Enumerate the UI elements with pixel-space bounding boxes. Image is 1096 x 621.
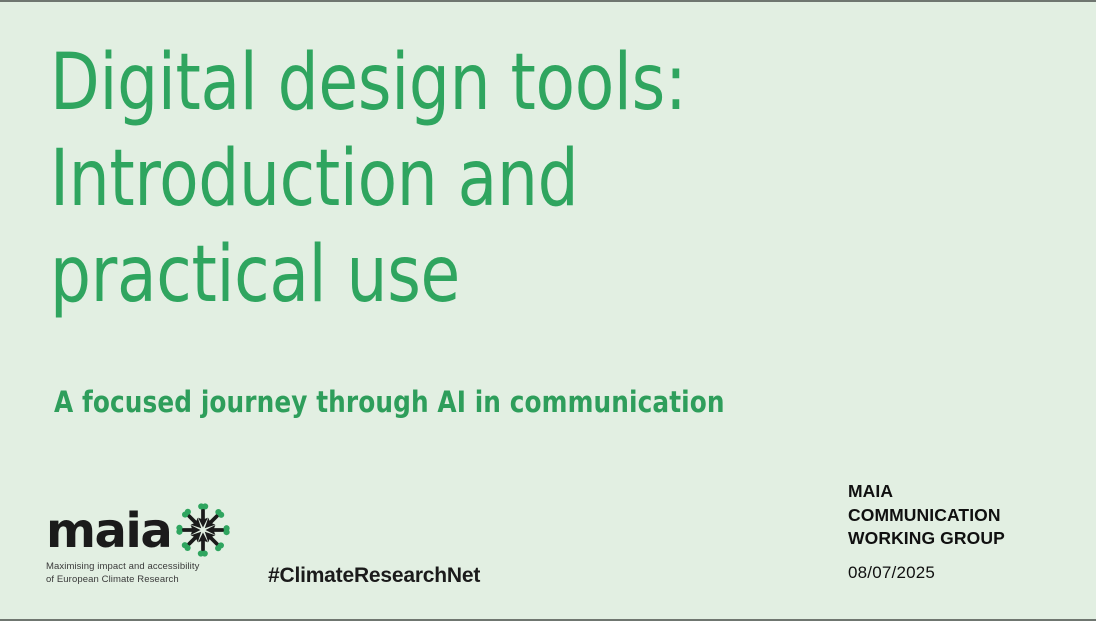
meta-line-1: MAIA [848, 480, 1078, 504]
title-line-1: Digital design tools: [50, 35, 915, 131]
title-line-3: practical use [50, 227, 915, 323]
title-line-2: Introduction and [50, 131, 915, 227]
logo-wordmark: maia [46, 507, 171, 555]
logo-row: maia [46, 507, 256, 555]
meta-line-2: COMMUNICATION [848, 504, 1078, 528]
presentation-title-slide: Digital design tools: Introduction and p… [0, 0, 1096, 621]
logo-tagline-line-2: of European Climate Research [46, 573, 256, 586]
logo-tagline-line-1: Maximising impact and accessibility [46, 560, 256, 573]
slide-date: 08/07/2025 [848, 563, 1078, 583]
logo-tagline: Maximising impact and accessibility of E… [46, 560, 256, 586]
maia-starburst-icon [172, 499, 234, 561]
maia-logo: maia [46, 507, 256, 586]
page-subtitle: A focused journey through AI in communic… [54, 385, 725, 419]
meta-line-3: WORKING GROUP [848, 527, 1078, 551]
slide-meta-block: MAIA COMMUNICATION WORKING GROUP 08/07/2… [848, 480, 1078, 583]
page-title: Digital design tools: Introduction and p… [50, 35, 990, 323]
hashtag-label: #ClimateResearchNet [268, 564, 480, 588]
